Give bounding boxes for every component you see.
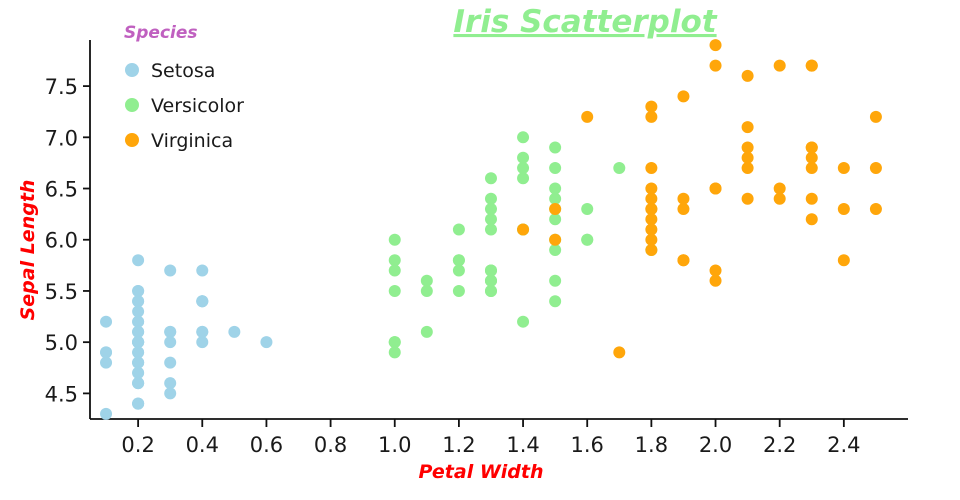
data-point (453, 254, 465, 266)
data-point (485, 203, 497, 215)
data-point (581, 203, 593, 215)
legend: Species SetosaVersicolorVirginica (124, 23, 244, 152)
data-point (196, 336, 208, 348)
data-point (485, 285, 497, 297)
x-tick-label: 0.6 (250, 433, 283, 457)
data-point (870, 203, 882, 215)
data-point (389, 234, 401, 246)
data-point (806, 60, 818, 72)
data-point (677, 254, 689, 266)
data-point (645, 234, 657, 246)
data-point (742, 142, 754, 154)
data-point (132, 336, 144, 348)
data-point (549, 234, 561, 246)
data-point (485, 224, 497, 236)
data-point (517, 224, 529, 236)
data-point (485, 193, 497, 205)
legend-label-virginica[interactable]: Virginica (151, 130, 233, 152)
legend-label-setosa[interactable]: Setosa (151, 60, 215, 82)
x-tick-label: 1.0 (378, 433, 411, 457)
data-point (389, 264, 401, 276)
data-point (581, 111, 593, 123)
data-point (549, 203, 561, 215)
x-tick-label: 1.4 (506, 433, 539, 457)
data-point (132, 295, 144, 307)
data-point (453, 224, 465, 236)
series-setosa (100, 254, 272, 420)
data-point (549, 162, 561, 174)
data-point (710, 60, 722, 72)
data-point (164, 264, 176, 276)
data-point (196, 264, 208, 276)
data-point (677, 193, 689, 205)
legend-marker-setosa[interactable] (125, 63, 139, 77)
legend-title: Species (124, 23, 198, 43)
data-point (517, 152, 529, 164)
data-point (164, 336, 176, 348)
data-point (645, 193, 657, 205)
y-axis-title: Sepal Length (17, 180, 39, 321)
data-point (485, 275, 497, 287)
data-point (870, 162, 882, 174)
data-point (100, 357, 112, 369)
data-point (100, 316, 112, 328)
data-point (389, 346, 401, 358)
data-point (389, 285, 401, 297)
data-point (677, 203, 689, 215)
data-point (132, 377, 144, 389)
y-tick-label: 7.0 (45, 126, 78, 150)
data-point (645, 101, 657, 113)
x-tick-label: 0.2 (121, 433, 154, 457)
data-point (132, 285, 144, 297)
data-point (549, 142, 561, 154)
data-point (742, 70, 754, 82)
data-point (710, 183, 722, 195)
data-point (132, 316, 144, 328)
data-point (710, 275, 722, 287)
data-point (645, 162, 657, 174)
data-point (132, 398, 144, 410)
data-point (517, 162, 529, 174)
data-point (806, 162, 818, 174)
x-tick-label: 1.2 (442, 433, 475, 457)
data-point (742, 193, 754, 205)
data-point (838, 203, 850, 215)
x-tick-label: 0.8 (314, 433, 347, 457)
data-point (132, 367, 144, 379)
x-tick-label: 2.2 (763, 433, 796, 457)
chart-canvas: Iris Scatterplot 4.55.05.56.06.57.07.5 0… (0, 0, 960, 500)
data-point (549, 244, 561, 256)
data-point (645, 213, 657, 225)
data-point (870, 111, 882, 123)
data-point (613, 346, 625, 358)
data-point (806, 193, 818, 205)
x-tick-label: 2.0 (699, 433, 732, 457)
data-point (100, 346, 112, 358)
data-point (485, 213, 497, 225)
data-point (485, 264, 497, 276)
series-versicolor (389, 131, 658, 358)
data-point (774, 193, 786, 205)
data-point (517, 172, 529, 184)
data-point (645, 111, 657, 123)
y-tick-label: 7.5 (45, 75, 78, 99)
data-point (164, 377, 176, 389)
data-point (421, 285, 433, 297)
x-tick-label: 1.8 (635, 433, 668, 457)
data-point (453, 285, 465, 297)
data-point (164, 326, 176, 338)
data-point (485, 172, 497, 184)
data-point (806, 152, 818, 164)
data-point (806, 213, 818, 225)
data-point (132, 357, 144, 369)
data-point (132, 254, 144, 266)
data-point (645, 183, 657, 195)
legend-label-versicolor[interactable]: Versicolor (151, 95, 244, 117)
data-point (421, 275, 433, 287)
data-point (838, 162, 850, 174)
x-tick-label: 1.6 (571, 433, 604, 457)
data-point (196, 295, 208, 307)
data-point (421, 326, 433, 338)
data-point (453, 264, 465, 276)
data-point (581, 234, 593, 246)
x-axis-title: Petal Width (418, 461, 543, 483)
data-point (774, 183, 786, 195)
data-point (613, 162, 625, 174)
data-point (132, 346, 144, 358)
data-point (164, 387, 176, 399)
data-point (132, 326, 144, 338)
x-tick-label: 2.4 (827, 433, 860, 457)
data-point (100, 408, 112, 420)
y-tick-label: 4.5 (45, 382, 78, 406)
data-point (549, 183, 561, 195)
data-point (742, 152, 754, 164)
data-point (164, 357, 176, 369)
data-point (549, 295, 561, 307)
data-point (260, 336, 272, 348)
data-point (517, 131, 529, 143)
legend-marker-versicolor[interactable] (125, 98, 139, 112)
data-point (549, 213, 561, 225)
data-point (677, 90, 689, 102)
data-point (710, 39, 722, 51)
data-point (774, 60, 786, 72)
data-point (549, 193, 561, 205)
data-point (710, 264, 722, 276)
y-tick-label: 5.5 (45, 280, 78, 304)
y-tick-label: 6.0 (45, 229, 78, 253)
data-point (742, 162, 754, 174)
data-point (196, 326, 208, 338)
legend-marker-virginica[interactable] (125, 133, 139, 147)
data-point (228, 326, 240, 338)
y-tick-label: 5.0 (45, 331, 78, 355)
data-point (389, 336, 401, 348)
series-virginica (517, 39, 882, 358)
x-tick-label: 0.4 (186, 433, 219, 457)
x-axis-ticks: 0.20.40.60.81.01.21.41.61.82.02.22.4 (121, 419, 860, 457)
data-point (645, 224, 657, 236)
data-point (517, 316, 529, 328)
data-point (549, 275, 561, 287)
data-point (645, 244, 657, 256)
chart-title: Iris Scatterplot (453, 4, 717, 40)
data-point (742, 121, 754, 133)
data-point (132, 305, 144, 317)
y-tick-label: 6.5 (45, 178, 78, 202)
data-point (806, 142, 818, 154)
data-point (838, 254, 850, 266)
data-point (389, 254, 401, 266)
data-point (645, 203, 657, 215)
y-axis-ticks: 4.55.05.56.06.57.07.5 (45, 75, 90, 406)
scatterplot-figure: Iris Scatterplot 4.55.05.56.06.57.07.5 0… (0, 0, 960, 500)
